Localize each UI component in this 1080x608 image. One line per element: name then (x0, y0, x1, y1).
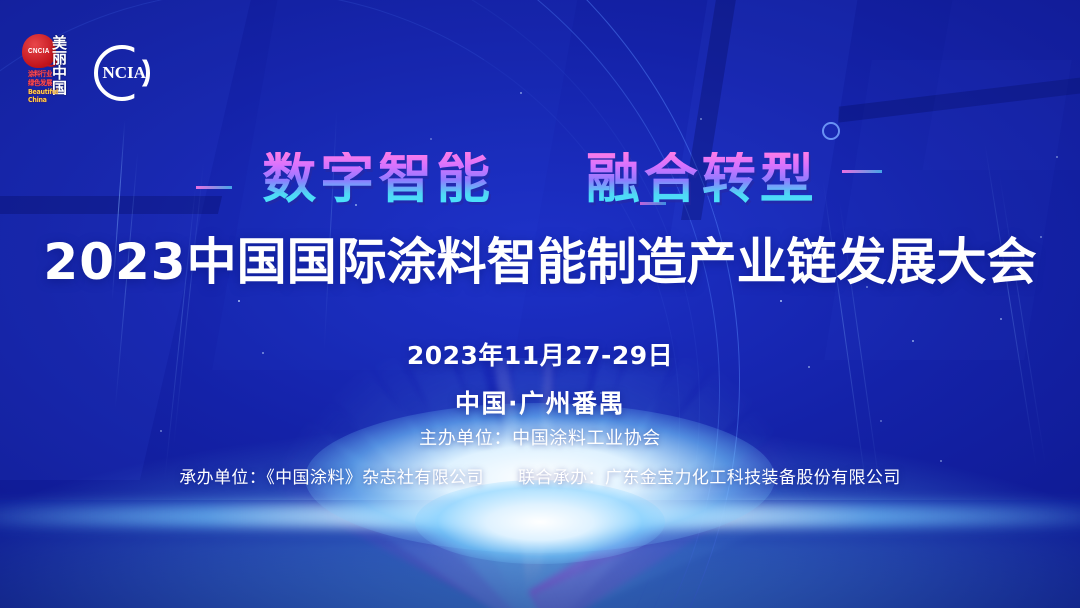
event-dateblock: 2023年11月27-29日 中国·广州番禺 (0, 336, 1080, 420)
cncia-sub-line1: 涂料行业 (28, 70, 52, 78)
cncia-sub-line2: 绿色发展 (28, 79, 52, 87)
event-place: 中国·广州番禺 (0, 384, 1080, 420)
organizer-label: 承办单位： (179, 468, 266, 488)
co-organizer-name: 广东金宝力化工科技装备股份有限公司 (605, 468, 901, 488)
event-date: 2023年11月27-29日 (0, 336, 1080, 372)
cncia-badge-text: CNCIA (28, 48, 50, 55)
headline-year: 2023 (43, 233, 186, 291)
circle-node-icon (822, 122, 840, 140)
cncia-subtitle: 涂料行业 绿色发展 Beautiful China (28, 70, 68, 108)
glitch-bar-right (842, 170, 882, 173)
co-organizer-label: 联合承办： (518, 468, 605, 488)
host-name: 中国涂料工业协会 (512, 428, 661, 449)
tagline-left: 数字智能 (262, 152, 494, 206)
glitch-bar-mid (640, 202, 666, 205)
ncia-letters: NCIA (103, 63, 146, 83)
organizer-block: 主办单位：中国涂料工业协会 承办单位：《中国涂料》杂志社有限公司联合承办：广东金… (0, 424, 1080, 488)
organizer-row: 承办单位：《中国涂料》杂志社有限公司联合承办：广东金宝力化工科技装备股份有限公司 (0, 463, 1080, 488)
ncia-logo: NCIA (94, 45, 150, 101)
organizer-name: 《中国涂料》杂志社有限公司 (266, 468, 484, 488)
logo-group: CNCIA 美丽中国 涂料行业 绿色发展 Beautiful China NCI… (22, 34, 150, 112)
conference-poster: CNCIA 美丽中国 涂料行业 绿色发展 Beautiful China NCI… (0, 0, 1080, 608)
host-row: 主办单位：中国涂料工业协会 (0, 424, 1080, 450)
cncia-beautiful-china-logo: CNCIA 美丽中国 涂料行业 绿色发展 Beautiful China (22, 34, 72, 112)
cncia-sub-en: Beautiful China (28, 88, 58, 105)
tagline-right: 融合转型 (586, 152, 818, 206)
host-label: 主办单位： (419, 428, 512, 449)
page-title: 2023中国国际涂料智能制造产业链发展大会 (0, 236, 1080, 289)
headline-text: 中国国际涂料智能制造产业链发展大会 (187, 233, 1037, 291)
glitch-bar-left (196, 186, 232, 189)
poster-tagline: 数字智能 融合转型 (0, 152, 1080, 206)
